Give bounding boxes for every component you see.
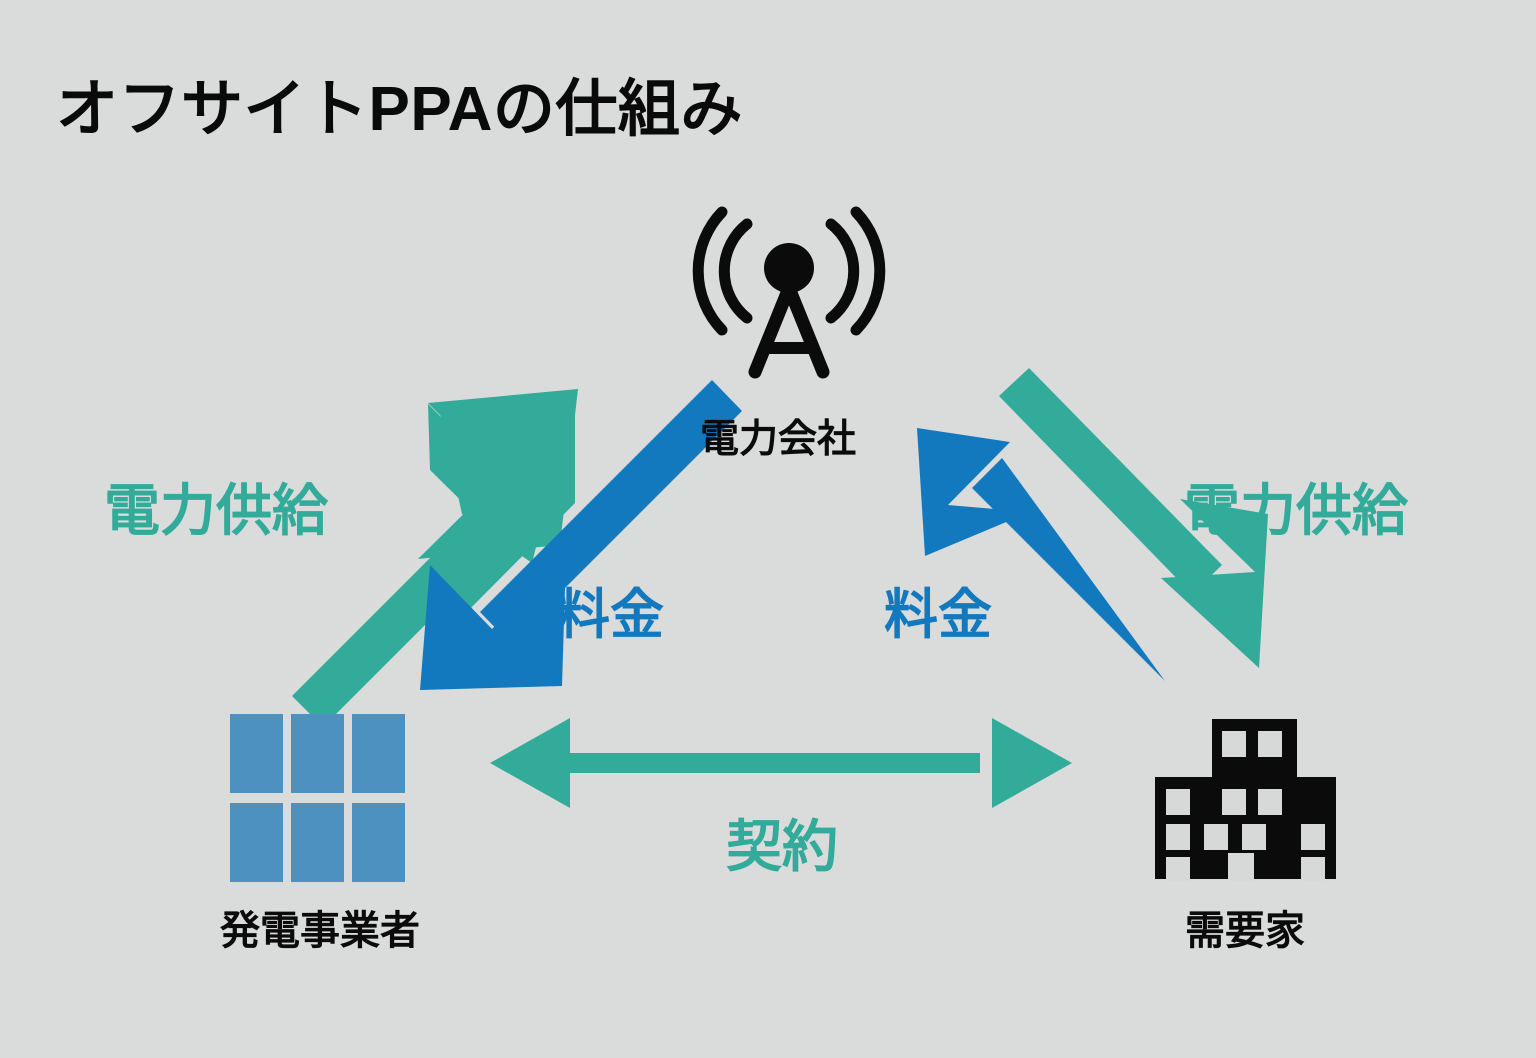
- office-building-icon: [1155, 719, 1336, 881]
- broadcast-tower-icon: [698, 212, 880, 372]
- node-label-generator: 発電事業者: [140, 898, 500, 956]
- arrow-contract: [490, 718, 1072, 808]
- diagram-canvas: オフサイトPPAの仕組み: [0, 0, 1536, 1058]
- node-label-consumer: 需要家: [1075, 898, 1415, 956]
- flow-label-fee-left: 料金: [556, 570, 664, 649]
- flow-label-supply-left: 電力供給: [104, 466, 328, 547]
- node-label-utility: 電力会社: [700, 408, 856, 464]
- flow-label-contract: 契約: [726, 802, 838, 883]
- flow-label-fee-right: 料金: [884, 570, 992, 649]
- flow-label-supply-right: 電力供給: [1184, 466, 1408, 547]
- solar-panel-icon: [230, 714, 405, 882]
